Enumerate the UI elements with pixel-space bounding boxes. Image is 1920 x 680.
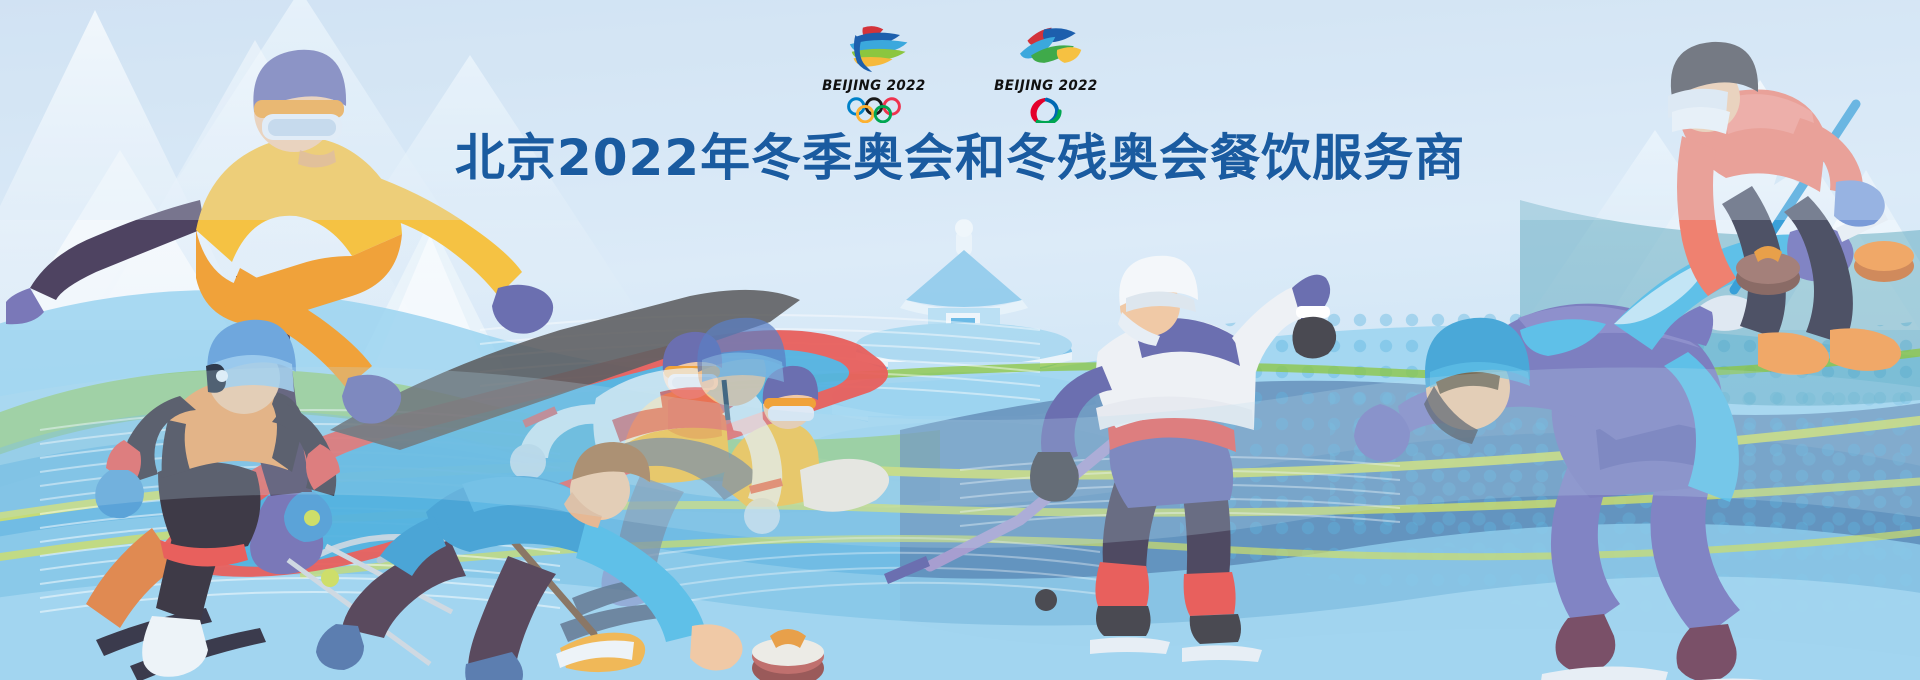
paralympic-wordmark: BEIJING 2022 <box>994 78 1097 94</box>
olympic-emblem-icon <box>826 22 922 74</box>
page-title: 北京2022年冬季奥会和冬残奥会餐饮服务商 <box>0 118 1920 190</box>
paralympic-emblem-icon <box>998 22 1094 74</box>
emblem-row: BEIJING 2022 BEIJING 2022 <box>0 22 1920 122</box>
olympic-wordmark: BEIJING 2022 <box>822 78 925 94</box>
olympics-banner: BEIJING 2022 BEIJING 2022 <box>0 0 1920 680</box>
paralympic-emblem: BEIJING 2022 <box>986 22 1106 123</box>
olympic-emblem: BEIJING 2022 <box>814 22 934 123</box>
